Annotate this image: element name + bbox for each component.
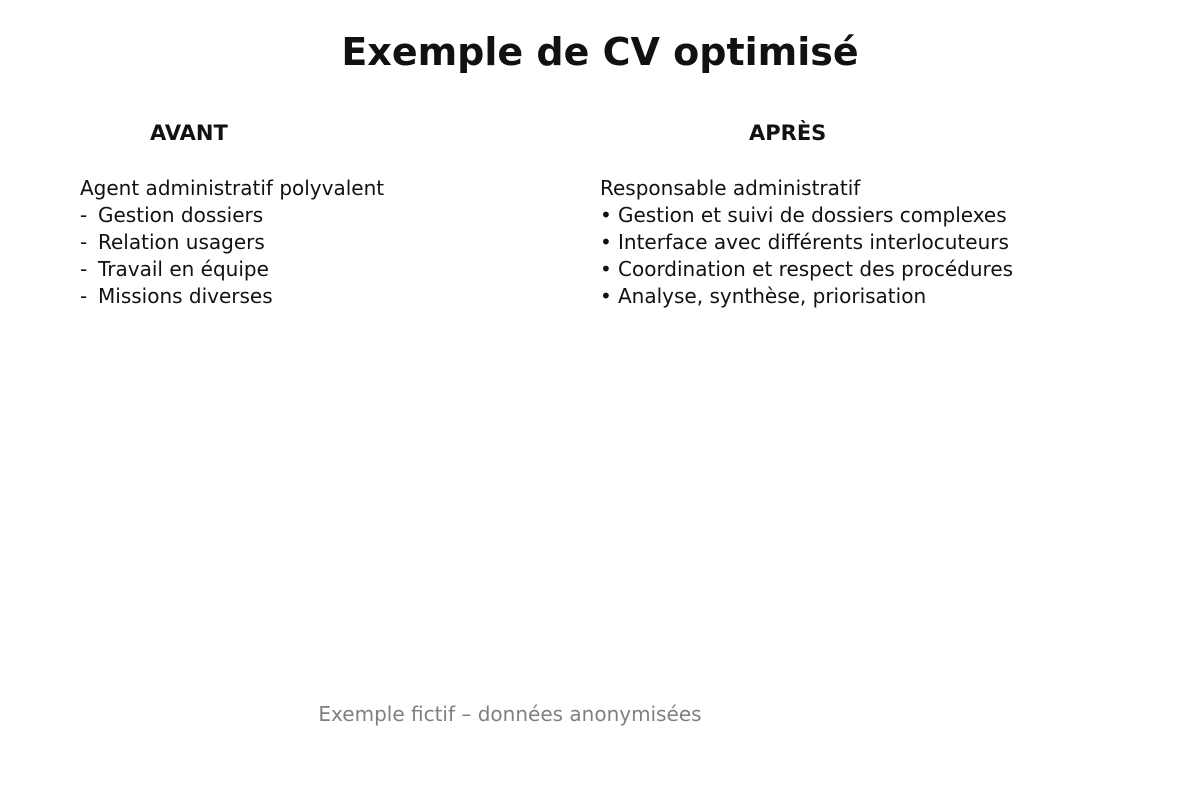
list-item-label: Coordination et respect des procédures [618,257,1013,281]
list-item-label: Gestion et suivi de dossiers complexes [618,203,1007,227]
round-bullet-icon: • [600,256,618,283]
column-after-role: Responsable administratif [600,175,1120,202]
list-item: •Interface avec différents interlocuteur… [600,229,1120,256]
column-before-body: Agent administratif polyvalent -Gestion … [80,175,550,310]
slide-canvas: Exemple de CV optimisé AVANT Agent admin… [0,0,1200,800]
list-item: -Missions diverses [80,283,550,310]
dash-bullet-icon: - [80,229,98,256]
list-item-label: Travail en équipe [98,257,269,281]
column-before: AVANT Agent administratif polyvalent -Ge… [80,118,550,310]
column-before-role: Agent administratif polyvalent [80,175,550,202]
list-item-label: Gestion dossiers [98,203,263,227]
list-item: -Travail en équipe [80,256,550,283]
round-bullet-icon: • [600,283,618,310]
list-item: -Relation usagers [80,229,550,256]
list-item: -Gestion dossiers [80,202,550,229]
dash-bullet-icon: - [80,283,98,310]
list-item-label: Interface avec différents interlocuteurs [618,230,1009,254]
list-item-label: Missions diverses [98,284,273,308]
list-item: •Analyse, synthèse, priorisation [600,283,1120,310]
list-item: •Gestion et suivi de dossiers complexes [600,202,1120,229]
round-bullet-icon: • [600,229,618,256]
column-after-body: Responsable administratif •Gestion et su… [600,175,1120,310]
page-title: Exemple de CV optimisé [0,28,1200,76]
column-before-heading: AVANT [80,118,550,148]
comparison-columns: AVANT Agent administratif polyvalent -Ge… [0,118,1200,358]
round-bullet-icon: • [600,202,618,229]
disclaimer-note: Exemple fictif – données anonymisées [0,700,1020,728]
dash-bullet-icon: - [80,256,98,283]
column-after: APRÈS Responsable administratif •Gestion… [600,118,1120,310]
list-item-label: Relation usagers [98,230,265,254]
dash-bullet-icon: - [80,202,98,229]
column-after-heading: APRÈS [600,118,1120,148]
list-item-label: Analyse, synthèse, priorisation [618,284,926,308]
list-item: •Coordination et respect des procédures [600,256,1120,283]
